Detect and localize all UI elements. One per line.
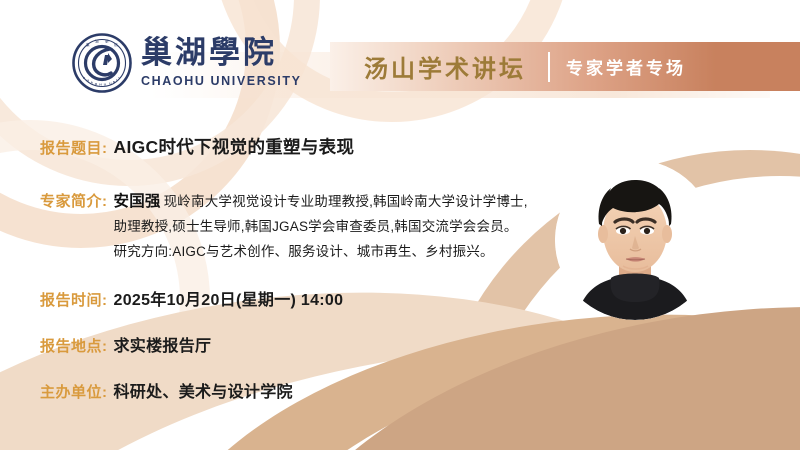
poster-header: 巢 湖 學 院 CH AO HU UN IV 巢湖學院 CHAO (0, 0, 800, 118)
svg-text:I: I (116, 78, 117, 82)
svg-text:院: 院 (114, 42, 118, 47)
lecture-host-row: 主办单位: 科研处、美术与设计学院 (40, 378, 560, 402)
speaker-bio-line-2: 助理教授,硕士生导师,韩国JGAS学会审查委员,韩国交流学会会员。 (114, 214, 528, 239)
lecture-title-value: AIGC时代下视觉的重塑与表现 (114, 134, 355, 159)
university-name-cn: 巢湖學院 (141, 38, 302, 69)
svg-text:湖: 湖 (95, 38, 99, 43)
lecture-place-label: 报告地点: (40, 335, 108, 356)
forum-banner-title: 汤山学术讲坛 (364, 49, 526, 84)
poster-content: 报告题目: AIGC时代下视觉的重塑与表现 专家简介: 安国强现岭南大学视觉设计… (40, 134, 560, 404)
lecture-host-value: 科研处、美术与设计学院 (114, 378, 293, 402)
forum-banner: 汤山学术讲坛 专家学者专场 (330, 42, 800, 91)
university-name-block: 巢湖學院 CHAOHU UNIVERSITY (141, 38, 302, 88)
speaker-bio-line-1-rest: 现岭南大学视觉设计专业助理教授,韩国岭南大学设计学博士, (164, 194, 528, 209)
speaker-bio-label: 专家简介: (40, 190, 108, 211)
speaker-bio-row: 专家简介: 安国强现岭南大学视觉设计专业助理教授,韩国岭南大学设计学博士, 助理… (40, 189, 560, 264)
lecture-time-value: 2025年10月20日(星期一) 14:00 (114, 286, 344, 310)
university-name-en: CHAOHU UNIVERSITY (141, 75, 302, 88)
lecture-time-label: 报告时间: (40, 289, 108, 310)
lecture-title-row: 报告题目: AIGC时代下视觉的重塑与表现 (40, 134, 560, 159)
speaker-bio-line-3: 研究方向:AIGC与艺术创作、服务设计、城市再生、乡村振兴。 (114, 239, 528, 264)
speaker-bio-body: 安国强现岭南大学视觉设计专业助理教授,韩国岭南大学设计学博士, 助理教授,硕士生… (114, 189, 528, 264)
svg-text:學: 學 (105, 38, 109, 43)
speaker-name: 安国强 (114, 193, 161, 210)
lecture-title-label: 报告题目: (40, 137, 108, 158)
svg-text:巢: 巢 (86, 42, 90, 47)
forum-banner-subtitle: 专家学者专场 (566, 54, 686, 79)
banner-divider (548, 52, 550, 82)
chaohu-university-emblem-icon: 巢 湖 學 院 CH AO HU UN IV (72, 33, 132, 93)
speaker-bio-line-1: 安国强现岭南大学视觉设计专业助理教授,韩国岭南大学设计学博士, (114, 189, 528, 214)
lecture-poster: 巢 湖 學 院 CH AO HU UN IV 巢湖學院 CHAO (0, 0, 800, 450)
university-logo: 巢 湖 學 院 CH AO HU UN IV 巢湖學院 CHAO (72, 33, 302, 93)
lecture-time-row: 报告时间: 2025年10月20日(星期一) 14:00 (40, 286, 560, 310)
lecture-place-row: 报告地点: 求实楼报告厅 (40, 332, 560, 356)
lecture-host-label: 主办单位: (40, 381, 108, 402)
lecture-place-value: 求实楼报告厅 (114, 332, 212, 356)
speaker-portrait (555, 160, 715, 320)
